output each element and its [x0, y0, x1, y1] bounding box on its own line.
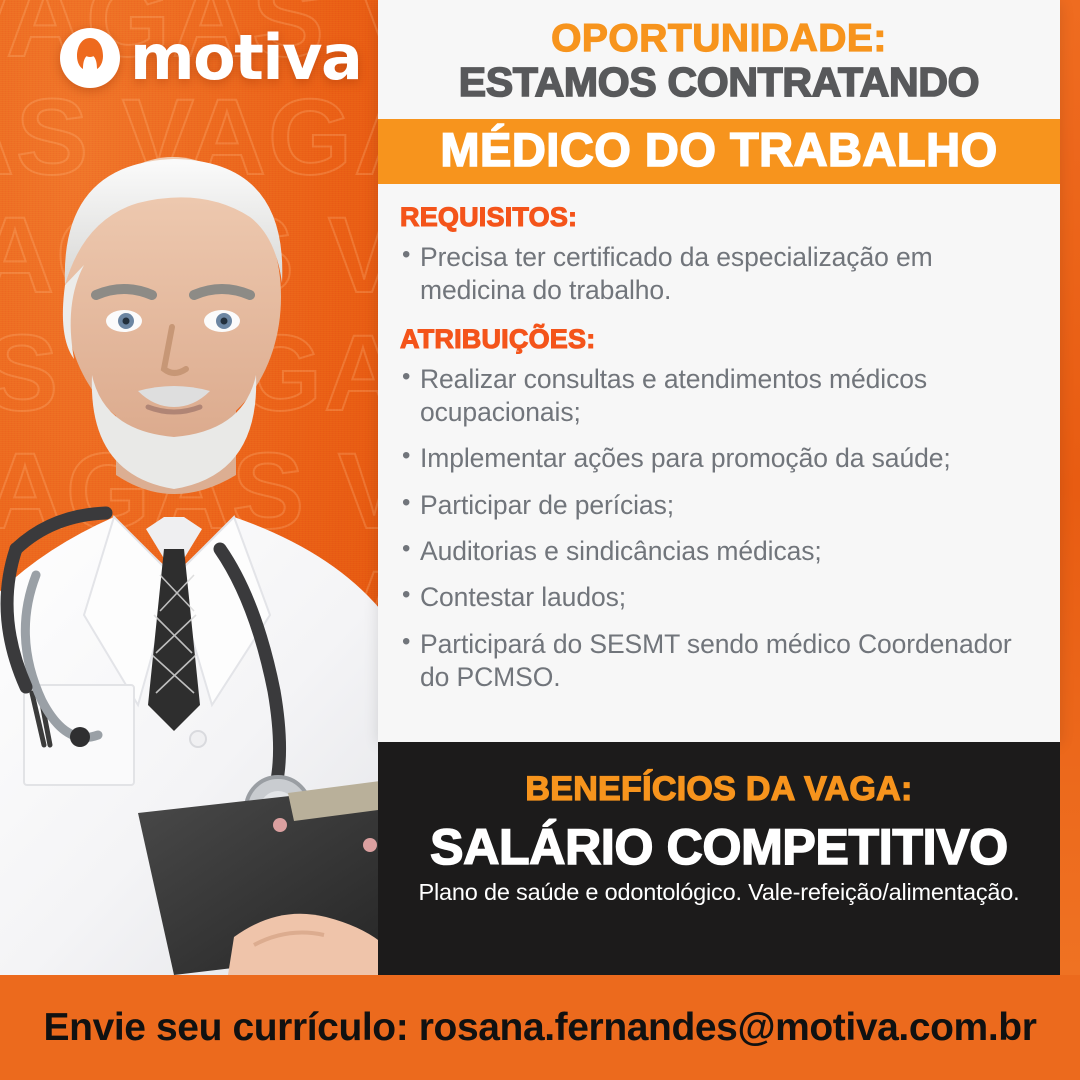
job-details-card: OPORTUNIDADE: ESTAMOS CONTRATANDO MÉDICO…	[378, 0, 1060, 742]
list-item: Contestar laudos;	[400, 581, 1038, 614]
list-item: Auditorias e sindicâncias médicas;	[400, 535, 1038, 568]
requirements-list: Precisa ter certificado da especializaçã…	[400, 241, 1038, 308]
requirements-title: REQUISITOS:	[400, 202, 1038, 233]
duties-title: ATRIBUIÇÕES:	[400, 324, 1038, 355]
benefits-panel: BENEFÍCIOS DA VAGA: SALÁRIO COMPETITIVO …	[378, 742, 1060, 975]
watermark-row: VAGAS VA	[0, 668, 380, 786]
list-item: Participará do SESMT sendo médico Coorde…	[400, 628, 1038, 695]
role-band: MÉDICO DO TRABALHO	[378, 119, 1060, 184]
job-posting-poster: VAGAS VA GAS VAGAS VAGAS VA GAS VAGAS VA…	[0, 0, 1080, 1080]
motiva-logo[interactable]: motiva	[58, 26, 361, 90]
left-orange-panel: VAGAS VA GAS VAGAS VAGAS VA GAS VAGAS VA…	[0, 0, 380, 975]
list-item: Implementar ações para promoção da saúde…	[400, 442, 1038, 475]
watermark-row: GAS VAGAS	[0, 786, 380, 904]
watermark-row: GAS VAGAS	[0, 314, 380, 432]
doctor-photo	[0, 145, 380, 975]
grain-texture-overlay	[0, 0, 380, 975]
right-orange-edge	[1058, 0, 1080, 975]
watermark-row: VAGAS VA	[0, 432, 380, 550]
watermark-row: VAGAS VA	[0, 196, 380, 314]
benefits-extra: Plano de saúde e odontológico. Vale-refe…	[378, 879, 1060, 906]
headline-kicker: OPORTUNIDADE:	[396, 18, 1042, 59]
vagas-watermark-pattern: VAGAS VA GAS VAGAS VAGAS VA GAS VAGAS VA…	[0, 0, 380, 975]
role-title: MÉDICO DO TRABALHO	[440, 123, 997, 176]
duties-list: Realizar consultas e atendimentos médico…	[400, 363, 1038, 695]
list-item: Participar de perícias;	[400, 489, 1038, 522]
motiva-person-circle-icon	[58, 26, 122, 90]
list-item: Realizar consultas e atendimentos médico…	[400, 363, 1038, 430]
watermark-row: GAS VAGAS	[0, 550, 380, 668]
benefits-salary: SALÁRIO COMPETITIVO	[378, 819, 1060, 875]
footer-contact-bar: Envie seu currículo: rosana.fernandes@mo…	[0, 975, 1080, 1080]
watermark-row: VAGAS VA	[0, 904, 380, 975]
watermark-row: GAS VAGAS	[0, 78, 380, 196]
footer-email-text[interactable]: Envie seu currículo: rosana.fernandes@mo…	[44, 1006, 1037, 1050]
benefits-title: BENEFÍCIOS DA VAGA:	[378, 770, 1060, 809]
logo-wordmark: motiva	[130, 27, 361, 89]
headline-block: OPORTUNIDADE: ESTAMOS CONTRATANDO	[378, 0, 1060, 111]
list-item: Precisa ter certificado da especializaçã…	[400, 241, 1038, 308]
headline-subtitle: ESTAMOS CONTRATANDO	[396, 61, 1042, 104]
card-body: REQUISITOS: Precisa ter certificado da e…	[378, 184, 1060, 695]
